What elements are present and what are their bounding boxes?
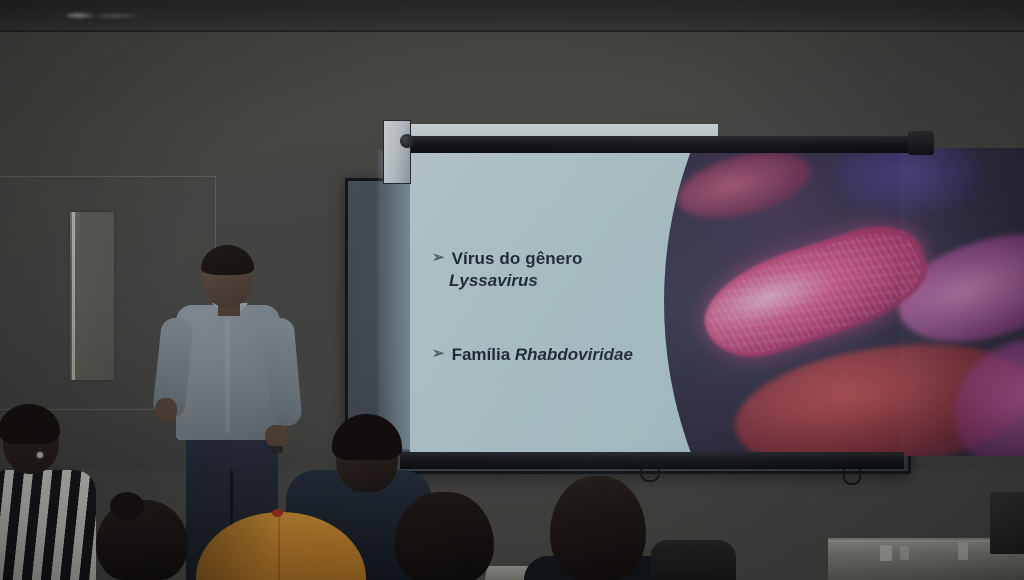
slide-bullet-1: ➢ Vírus do gênero [432,248,682,270]
ceiling-light-icon [66,12,96,19]
virion-main-texture [697,220,932,366]
screen-top-rail [392,136,932,153]
bullet-arrow-icon-2: ➢ [432,344,445,364]
desk-object-small [958,542,968,560]
audience-cap-seam [278,518,280,580]
screen-rail-end-cap [908,131,934,155]
audience-cap-button [272,509,283,517]
presenter-wristwatch [267,446,283,453]
ceiling-light-secondary-icon [96,13,142,19]
screen-bottom-rail [400,452,904,469]
slide-text-block: ➢ Vírus do gênero Lyssavirus ➢ Família R… [432,248,682,366]
lecture-room-photo: ➢ Vírus do gênero Lyssavirus ➢ Família R… [0,0,1024,580]
audience-right-head [550,476,646,580]
earring-icon [37,452,43,458]
audience-hair-bun-knot [110,492,144,520]
slide-bullet-1-line1: Vírus do gênero [452,248,583,270]
screen-pull-handle-right[interactable] [843,469,861,485]
ceiling [0,0,1024,34]
presenter-shirt-placket [225,315,230,433]
audience-striped-top [0,470,96,580]
screen-housing [383,120,411,184]
desk-object-cup [880,545,892,561]
virion-top-left [671,148,817,230]
slide-bullet-2: ➢ Família Rhabdoviridae [432,344,682,366]
chair [650,540,736,580]
bullet-arrow-icon: ➢ [432,248,445,268]
desk-object-bottle [900,546,909,560]
projection-spill-left [378,150,412,450]
slide-bullet-2-text: Família Rhabdoviridae [452,344,633,366]
presenter-right-hand [265,425,289,447]
slide-bullet-1-line2: Lyssavirus [432,270,682,292]
presenter-left-hand [155,398,177,422]
projection-spill-right [900,148,1024,456]
slide-bullet-2-italic: Rhabdoviridae [515,345,633,364]
screen-roller-knob[interactable] [400,134,414,148]
monitor [990,492,1024,554]
wall-panel [70,212,114,380]
slide-bullet-2-prefix: Família [452,345,515,364]
audience-center-head [394,492,494,580]
